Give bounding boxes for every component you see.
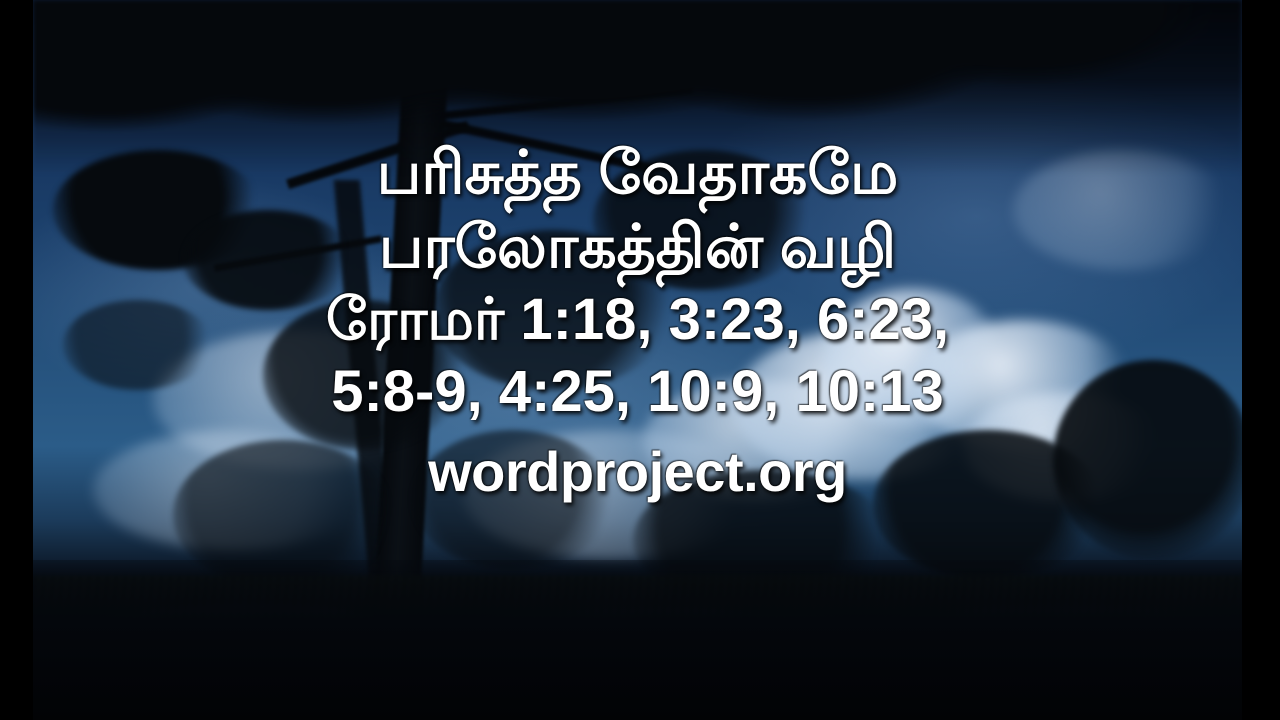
video-frame: பரிசுத்த வேதாகமே பரலோகத்தின் வழி ரோமர் 1… <box>0 0 1280 720</box>
caption-line-4: 5:8-9, 4:25, 10:9, 10:13 <box>33 356 1242 428</box>
foreground-vegetation <box>33 560 1242 720</box>
pillarbox-right <box>1242 0 1280 720</box>
pillarbox-left <box>0 0 33 720</box>
caption-line-2: பரலோகத்தின் வழி <box>33 210 1242 284</box>
caption-overlay: பரிசுத்த வேதாகமே பரலோகத்தின் வழி ரோமர் 1… <box>33 136 1242 500</box>
caption-line-5-website: wordproject.org <box>33 428 1242 500</box>
caption-line-3: ரோமர் 1:18, 3:23, 6:23, <box>33 284 1242 356</box>
caption-line-1: பரிசுத்த வேதாகமே <box>33 136 1242 210</box>
